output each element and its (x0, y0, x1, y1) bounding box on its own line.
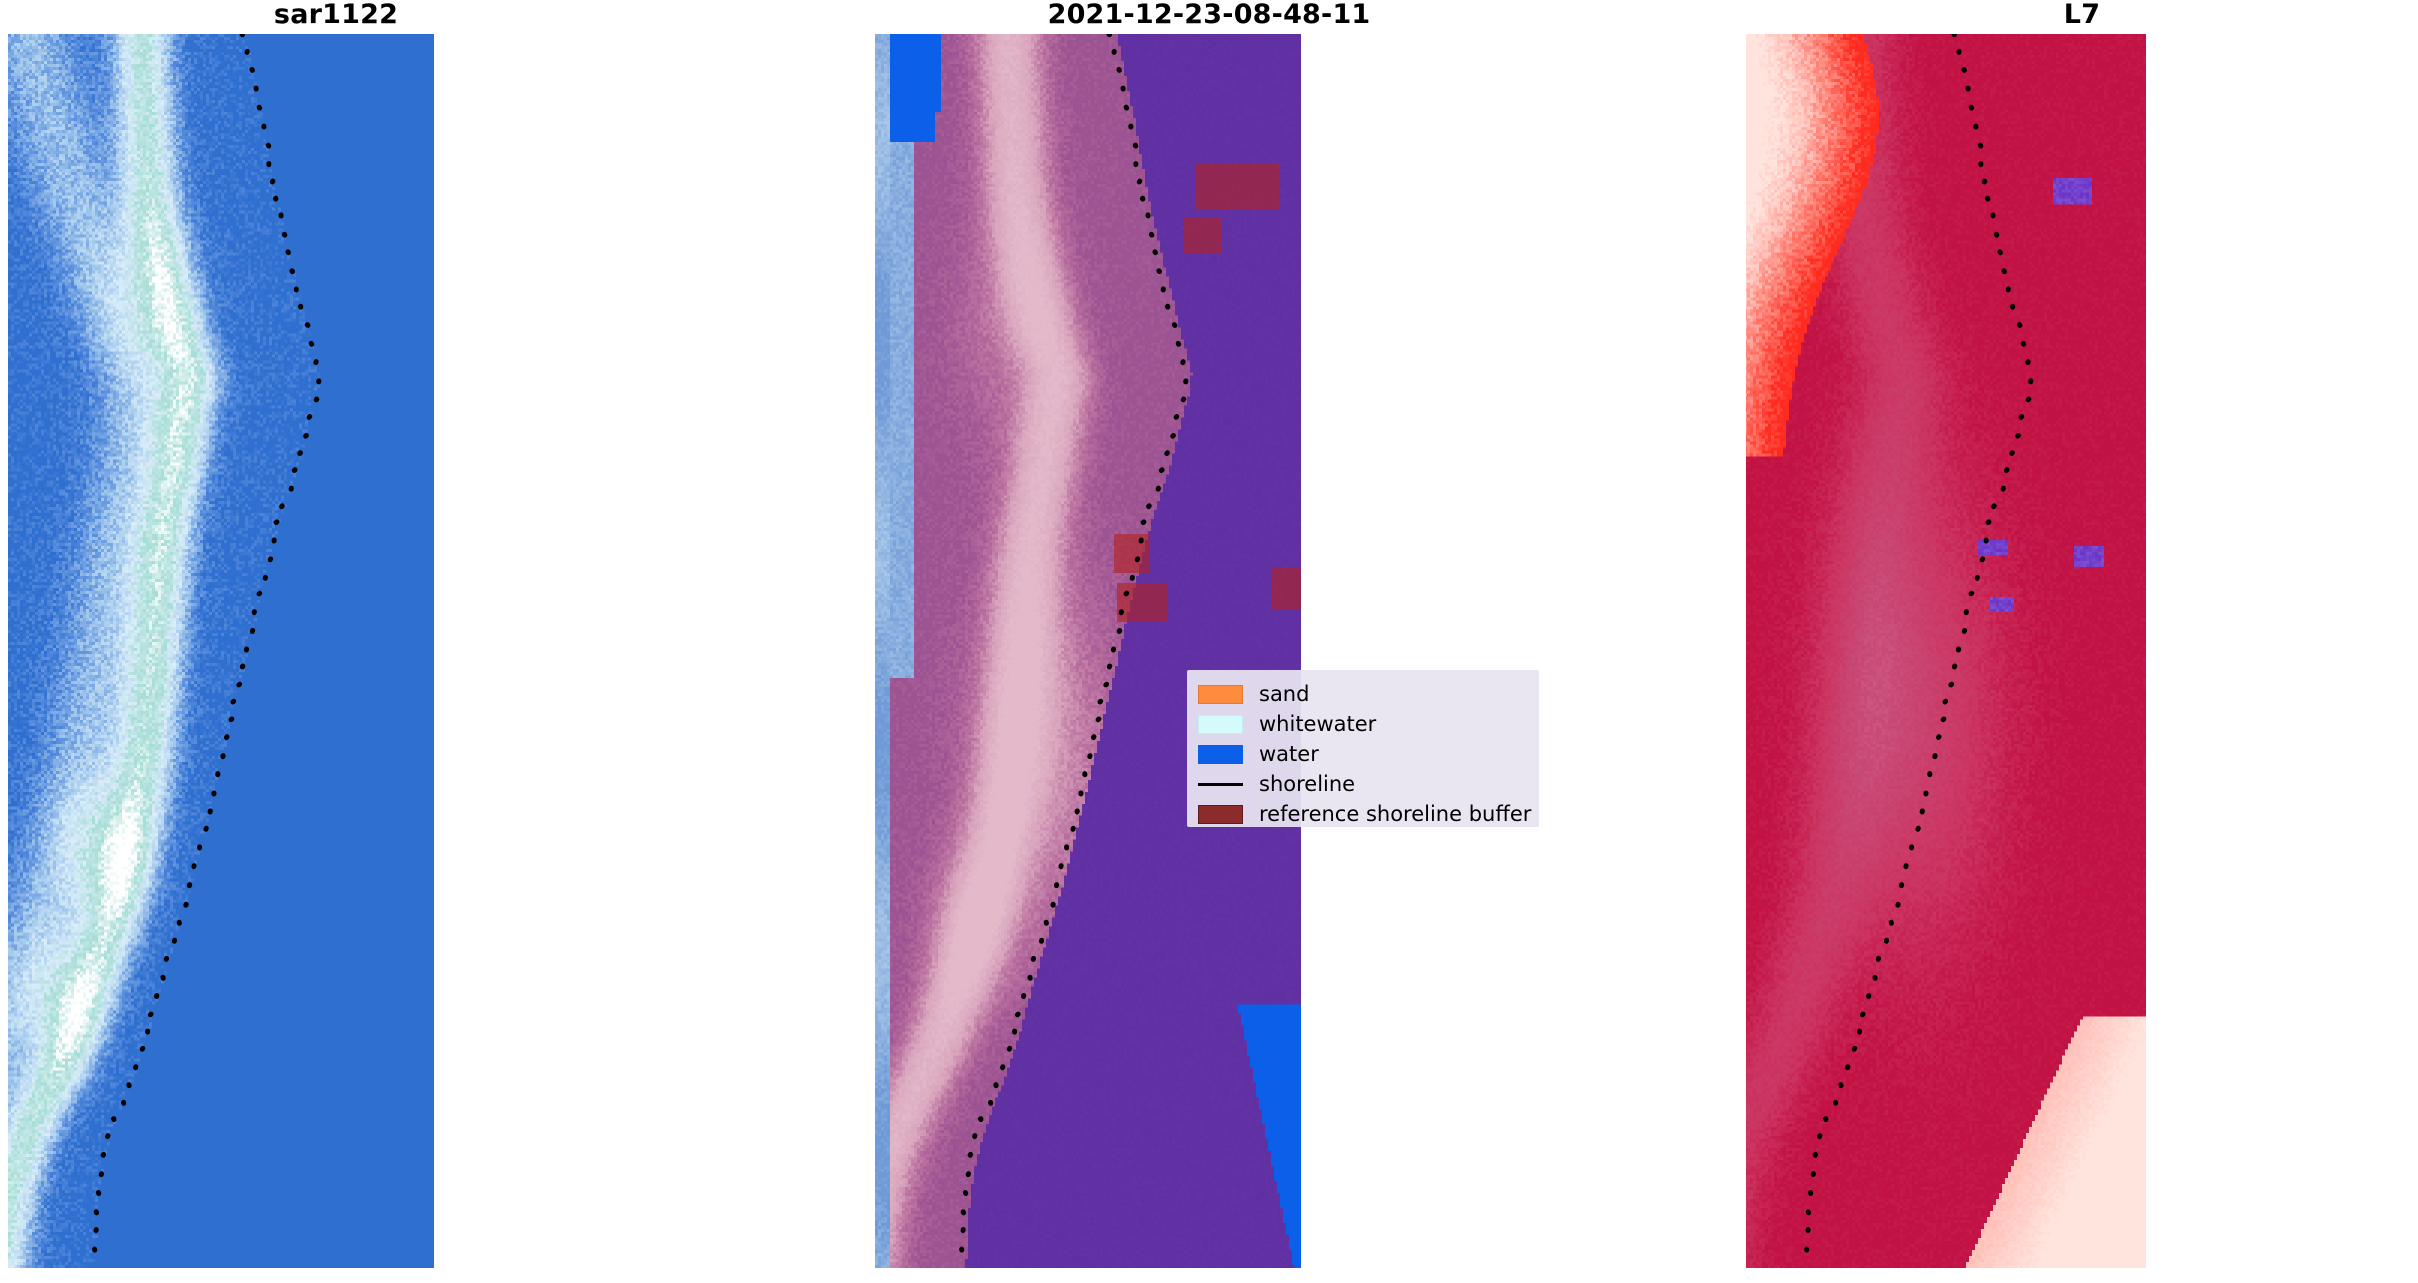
shoreline-polyline (91, 34, 319, 1268)
classification-panel-title: 2021-12-23-08-48-11 (672, 0, 1746, 34)
sar-panel: sar1122 (0, 0, 672, 1283)
l7-panel-title: L7 (1746, 0, 2418, 34)
legend-label-reference-shoreline-buffer: reference shoreline buffer (1259, 799, 1531, 829)
map-legend[interactable]: sand whitewater water shoreline (1187, 670, 1539, 827)
legend-item-shoreline[interactable]: shoreline (1198, 769, 1529, 799)
water-swatch-icon (1198, 739, 1243, 769)
classification-image-area[interactable] (875, 34, 1301, 1268)
legend-item-sand[interactable]: sand (1198, 679, 1529, 709)
legend-label-sand: sand (1259, 679, 1309, 709)
sar-image-area[interactable] (8, 34, 434, 1268)
legend-item-whitewater[interactable]: whitewater (1198, 709, 1529, 739)
l7-shoreline-overlay (1746, 34, 2146, 1268)
classification-panel: 2021-12-23-08-48-11 sand (672, 0, 1746, 1283)
shoreline-polyline (1803, 34, 2031, 1268)
legend-item-water[interactable]: water (1198, 739, 1529, 769)
whitewater-swatch-icon (1198, 709, 1243, 739)
legend-item-reference-shoreline-buffer[interactable]: reference shoreline buffer (1198, 799, 1529, 829)
sand-swatch-icon (1198, 679, 1243, 709)
legend-label-shoreline: shoreline (1259, 769, 1355, 799)
sar-panel-title: sar1122 (0, 0, 672, 34)
classification-shoreline-overlay (875, 34, 1301, 1268)
legend-label-whitewater: whitewater (1259, 709, 1376, 739)
reference-buffer-swatch-icon (1198, 799, 1243, 829)
l7-panel: L7 (1746, 0, 2418, 1283)
sar-shoreline-overlay (8, 34, 434, 1268)
shoreline-line-icon (1198, 769, 1243, 799)
figure-canvas: sar1122 2021-12-23-08-48-11 (0, 0, 2418, 1283)
l7-image-area[interactable] (1746, 34, 2146, 1268)
legend-label-water: water (1259, 739, 1319, 769)
shoreline-polyline (958, 34, 1186, 1268)
